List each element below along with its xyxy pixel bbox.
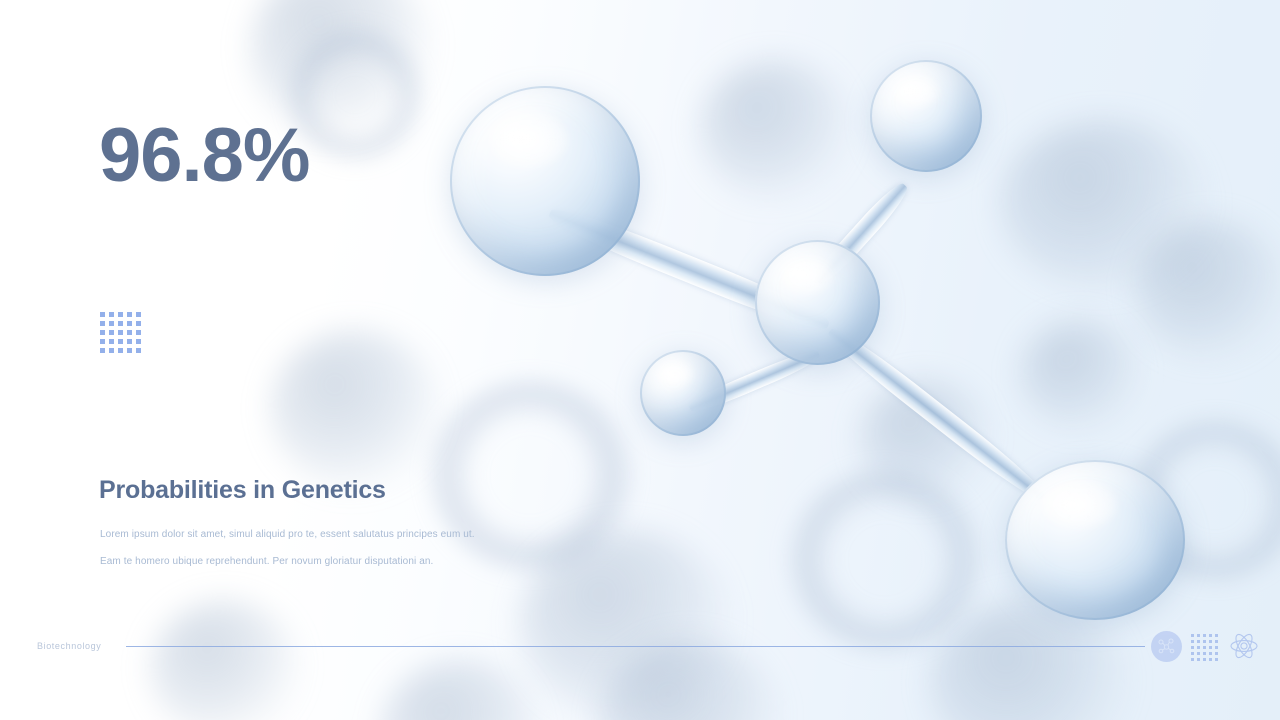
molecule-icon[interactable] — [1151, 631, 1182, 662]
molecule-atom — [870, 60, 982, 172]
molecule-illustration — [400, 20, 1240, 680]
footer-divider — [126, 646, 1145, 647]
molecule-atom — [450, 86, 640, 276]
body-paragraph-2: Eam te homero ubique reprehendunt. Per n… — [100, 556, 433, 567]
page-title: Probabilities in Genetics — [99, 476, 386, 505]
body-paragraph-1: Lorem ipsum dolor sit amet, simul aliqui… — [100, 529, 475, 540]
dot-grid-icon — [1191, 634, 1218, 661]
molecule-icon-glyph — [1157, 637, 1176, 656]
stat-percentage: 96.8% — [99, 118, 310, 194]
molecule-atom — [640, 350, 726, 436]
atom-icon[interactable] — [1229, 631, 1259, 661]
molecule-atom — [755, 240, 880, 365]
molecule-atom — [1005, 460, 1185, 620]
dot-grid-decoration — [100, 312, 141, 353]
slide-canvas: 96.8% Probabilities in Genetics Lorem ip… — [0, 0, 1280, 720]
footer-label: Biotechnology — [37, 641, 101, 651]
